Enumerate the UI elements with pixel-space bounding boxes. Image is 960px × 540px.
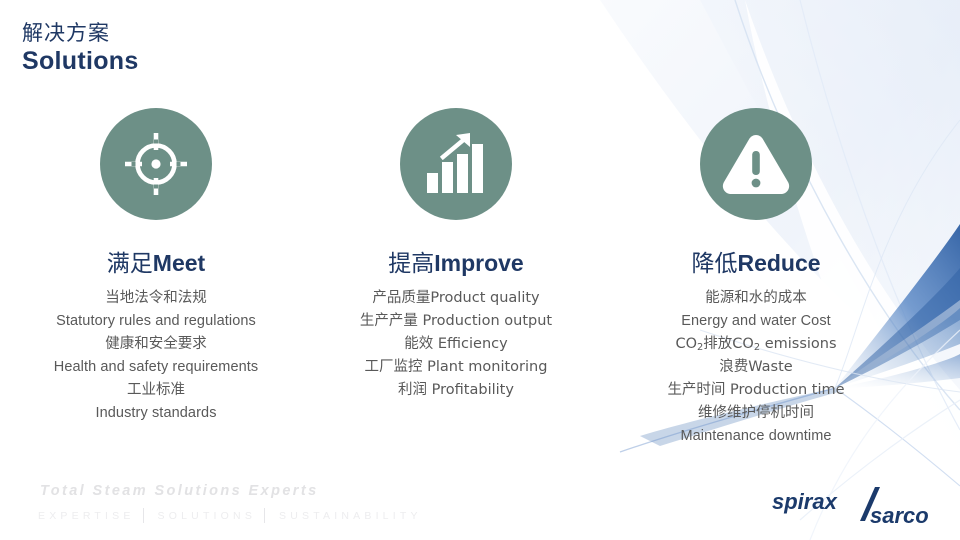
footer-pillar-solutions: SOLUTIONS [158,510,256,522]
column-improve: 提高Improve 产品质量Product quality 生产产量 Produ… [306,108,606,448]
target-crosshair-icon [100,108,212,220]
column-lines-reduce: 能源和水的成本 Energy and water Cost CO2排放CO2 e… [667,287,844,447]
slide-title-en: Solutions [22,48,139,74]
footer-separator [143,508,144,523]
list-item: 能源和水的成本 [667,287,844,310]
list-item: Maintenance downtime [667,425,844,448]
list-item: 浪费Waste [667,356,844,379]
column-heading-en: Meet [153,250,205,276]
list-item: 生产时间 Production time [667,379,844,402]
column-heading-cn: 满足 [107,251,153,277]
column-heading-reduce: 降低Reduce [691,251,820,277]
footer-pillars: EXPERTISE SOLUTIONS SUSTAINABILITY [38,508,422,523]
list-item: Health and safety requirements [54,356,259,379]
list-item: 产品质量Product quality [360,287,552,310]
list-item: 健康和安全要求 [54,333,259,356]
column-heading-en: Reduce [737,250,820,276]
list-item: 能效 Efficiency [360,333,552,356]
column-heading-meet: 满足Meet [107,251,205,277]
column-heading-improve: 提高Improve [388,251,523,277]
column-lines-meet: 当地法令和法规 Statutory rules and regulations … [54,287,259,424]
slide-title-cn: 解决方案 [22,22,139,44]
list-item: Energy and water Cost [667,310,844,333]
slide-title: 解决方案 Solutions [22,22,139,74]
column-reduce: 降低Reduce 能源和水的成本 Energy and water Cost C… [606,108,906,448]
bar-chart-growth-icon [400,108,512,220]
footer-tagline: Total Steam Solutions Experts [40,483,319,499]
list-item: 工业标准 [54,379,259,402]
footer-pillar-sustainability: SUSTAINABILITY [279,510,422,522]
list-item-co2: CO2排放CO2 emissions [667,333,844,356]
logo-word-spirax: spirax [772,489,838,514]
warning-triangle-icon [700,108,812,220]
list-item: 工厂监控 Plant monitoring [360,356,552,379]
column-meet: 满足Meet 当地法令和法规 Statutory rules and regul… [6,108,306,448]
column-lines-improve: 产品质量Product quality 生产产量 Production outp… [360,287,552,402]
list-item: 生产产量 Production output [360,310,552,333]
list-item: 维修维护停机时间 [667,402,844,425]
spirax-sarco-logo: spirax sarco [772,487,942,531]
column-heading-en: Improve [434,250,523,276]
footer-pillar-expertise: EXPERTISE [38,510,135,522]
footer-separator [264,508,265,523]
slide-canvas: 解决方案 Solutions [0,0,960,540]
column-heading-cn: 降低 [691,251,737,277]
list-item: 当地法令和法规 [54,287,259,310]
logo-word-sarco: sarco [870,503,929,528]
solutions-columns: 满足Meet 当地法令和法规 Statutory rules and regul… [0,108,960,448]
column-heading-cn: 提高 [388,251,434,277]
list-item: 利润 Profitability [360,379,552,402]
list-item: Industry standards [54,402,259,425]
list-item: Statutory rules and regulations [54,310,259,333]
